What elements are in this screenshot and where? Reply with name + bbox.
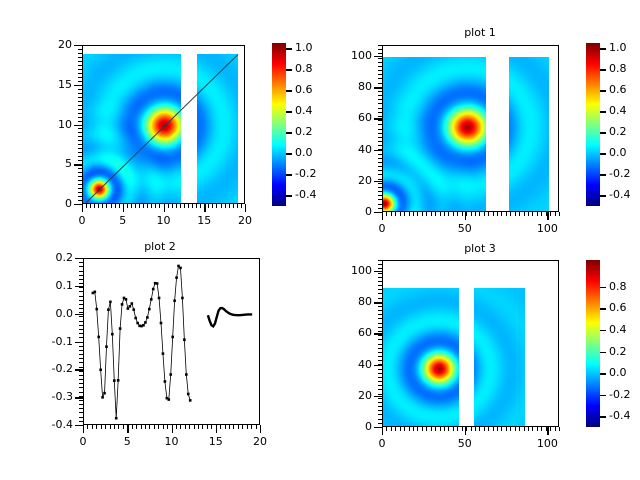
x-minor-tick (391, 212, 392, 216)
colorbar-tick-label: 0.6 (609, 83, 627, 96)
y-tick-label: 0.0 (27, 307, 73, 320)
line-series-plot2 (84, 259, 260, 425)
x-minor-tick (101, 425, 102, 429)
y-minor-tick (78, 69, 82, 70)
x-minor-tick (185, 425, 186, 429)
y-major-tick (374, 365, 382, 366)
colorbar-tick-label: 0.0 (609, 146, 627, 159)
y-tick-label: 80 (326, 80, 372, 93)
y-minor-tick (78, 61, 82, 62)
y-minor-tick (378, 419, 382, 420)
y-minor-tick (79, 383, 83, 384)
x-minor-tick (132, 425, 133, 429)
y-major-tick (75, 286, 83, 287)
y-minor-tick (79, 387, 83, 388)
y-major-tick (374, 271, 382, 272)
y-minor-tick (78, 73, 82, 74)
colorbar-tick (600, 287, 606, 288)
y-major-tick (374, 181, 382, 182)
y-minor-tick (378, 74, 382, 75)
y-minor-tick (78, 81, 82, 82)
x-minor-tick (537, 212, 538, 216)
y-tick-label: 0 (26, 197, 72, 210)
x-minor-tick (225, 204, 226, 208)
y-minor-tick (378, 204, 382, 205)
x-minor-tick (106, 204, 107, 208)
data-point-marker (150, 298, 153, 301)
y-major-tick (374, 150, 382, 151)
y-minor-tick (378, 323, 382, 324)
y-minor-tick (378, 179, 382, 180)
x-minor-tick (247, 425, 248, 429)
data-point-marker (134, 317, 137, 320)
y-tick-label: 0 (326, 420, 372, 433)
x-major-tick (465, 427, 466, 435)
heatmap-block-a (383, 288, 459, 427)
y-tick-label: 10 (26, 118, 72, 131)
x-minor-tick (180, 425, 181, 429)
colorbar-tick (286, 69, 292, 70)
y-minor-tick (378, 414, 382, 415)
y-tick-label: 20 (26, 38, 72, 51)
colorbar-tick-label: 0.2 (609, 345, 627, 358)
y-tick-label: 5 (26, 157, 72, 170)
x-minor-tick (475, 212, 476, 216)
y-minor-tick (78, 49, 82, 50)
y-minor-tick (79, 421, 83, 422)
x-minor-tick (497, 212, 498, 216)
colorbar-gradient (586, 260, 600, 427)
x-minor-tick (501, 427, 502, 431)
subplot-bottom-left: plot 2 051015200.20.10.0-0.1-0.2-0.3-0.4 (0, 240, 320, 480)
y-minor-tick (378, 62, 382, 63)
colorbar-tick (286, 111, 292, 112)
y-major-tick (75, 369, 83, 370)
y-minor-tick (78, 53, 82, 54)
x-minor-tick (479, 212, 480, 216)
y-minor-tick (79, 371, 83, 372)
x-minor-tick (528, 427, 529, 431)
y-minor-tick (79, 404, 83, 405)
x-minor-tick (479, 427, 480, 431)
y-minor-tick (79, 266, 83, 267)
x-minor-tick (155, 204, 156, 208)
data-point-marker (127, 307, 130, 310)
x-tick-label: 0 (60, 214, 104, 227)
y-minor-tick (78, 57, 82, 58)
x-minor-tick (493, 212, 494, 216)
x-minor-tick (400, 212, 401, 216)
y-minor-tick (378, 260, 382, 261)
x-minor-tick (145, 425, 146, 429)
x-minor-tick (237, 204, 238, 208)
y-major-tick (74, 125, 82, 126)
data-point-marker (107, 308, 110, 311)
y-minor-tick (79, 296, 83, 297)
y-minor-tick (79, 291, 83, 292)
data-point-marker (189, 399, 192, 402)
data-point-marker (167, 398, 170, 401)
y-minor-tick (79, 262, 83, 263)
x-minor-tick (192, 204, 193, 208)
x-minor-tick (435, 427, 436, 431)
figure-canvas: 0510152005101520 1.00.80.60.40.20.0-0.2-… (0, 0, 640, 480)
colorbar-tick-label: 0.4 (609, 323, 627, 336)
colorbar-tick-label: 0.8 (609, 62, 627, 75)
colorbar-tick (286, 195, 292, 196)
x-minor-tick (90, 204, 91, 208)
x-minor-tick (233, 204, 234, 208)
y-minor-tick (378, 281, 382, 282)
x-minor-tick (200, 204, 201, 208)
axes-frame-top-right (382, 45, 559, 212)
y-minor-tick (378, 306, 382, 307)
y-minor-tick (79, 304, 83, 305)
x-minor-tick (404, 212, 405, 216)
x-minor-tick (466, 212, 467, 216)
colorbar-tick (286, 132, 292, 133)
y-minor-tick (78, 192, 82, 193)
colorbar-gradient (272, 43, 286, 206)
heatmap-block-a (83, 54, 181, 204)
y-minor-tick (78, 148, 82, 149)
y-minor-tick (378, 141, 382, 142)
data-point-marker (183, 338, 186, 341)
y-minor-tick (79, 337, 83, 338)
x-minor-tick (493, 427, 494, 431)
x-major-tick (127, 425, 128, 433)
x-minor-tick (448, 212, 449, 216)
x-minor-tick (184, 204, 185, 208)
x-minor-tick (510, 427, 511, 431)
data-point-marker (119, 327, 122, 330)
y-minor-tick (378, 162, 382, 163)
y-minor-tick (79, 417, 83, 418)
x-minor-tick (484, 212, 485, 216)
x-major-tick (260, 425, 261, 433)
x-minor-tick (440, 212, 441, 216)
colorbar-tick-label: 0.4 (609, 104, 627, 117)
y-minor-tick (79, 358, 83, 359)
y-minor-tick (78, 188, 82, 189)
x-minor-tick (409, 427, 410, 431)
y-minor-tick (78, 168, 82, 169)
line-path-segment-1 (93, 266, 190, 418)
x-minor-tick (506, 212, 507, 216)
y-minor-tick (79, 408, 83, 409)
x-minor-tick (519, 212, 520, 216)
x-minor-tick (431, 427, 432, 431)
y-minor-tick (378, 314, 382, 315)
x-minor-tick (426, 212, 427, 216)
x-minor-tick (87, 425, 88, 429)
y-minor-tick (378, 398, 382, 399)
y-major-tick (74, 45, 82, 46)
y-major-tick (374, 87, 382, 88)
subplot-top-left: 0510152005101520 1.00.80.60.40.20.0-0.2-… (0, 0, 320, 240)
x-minor-tick (462, 427, 463, 431)
y-minor-tick (378, 360, 382, 361)
x-minor-tick (471, 212, 472, 216)
x-minor-tick (409, 212, 410, 216)
data-point-marker (142, 324, 145, 327)
axes-frame-top-left (82, 45, 245, 204)
x-minor-tick (139, 204, 140, 208)
x-minor-tick (221, 204, 222, 208)
data-point-marker (111, 333, 114, 336)
y-minor-tick (378, 344, 382, 345)
y-major-tick (374, 212, 382, 213)
x-minor-tick (188, 204, 189, 208)
x-tick-label: 5 (101, 214, 145, 227)
colorbar-tick (286, 90, 292, 91)
data-point-marker (97, 336, 100, 339)
data-point-marker (160, 322, 163, 325)
y-minor-tick (378, 166, 382, 167)
y-minor-tick (378, 264, 382, 265)
data-point-marker (125, 298, 128, 301)
y-minor-tick (378, 289, 382, 290)
heatmap-block-b (509, 57, 549, 212)
y-minor-tick (78, 196, 82, 197)
x-minor-tick (198, 425, 199, 429)
x-minor-tick (528, 212, 529, 216)
data-point-marker (105, 345, 108, 348)
data-point-marker (169, 373, 172, 376)
y-minor-tick (378, 124, 382, 125)
x-minor-tick (212, 204, 213, 208)
data-point-marker (171, 336, 174, 339)
data-point-marker (162, 352, 165, 355)
y-minor-tick (378, 273, 382, 274)
x-tick-label: 100 (525, 437, 569, 450)
x-minor-tick (233, 425, 234, 429)
y-minor-tick (378, 158, 382, 159)
y-minor-tick (378, 331, 382, 332)
x-major-tick (164, 204, 165, 212)
data-point-marker (132, 308, 135, 311)
colorbar-tick-label: -0.4 (609, 188, 630, 201)
y-minor-tick (79, 271, 83, 272)
y-minor-tick (378, 373, 382, 374)
colorbar-tick-label: 0.6 (295, 83, 313, 96)
x-minor-tick (422, 427, 423, 431)
y-minor-tick (79, 367, 83, 368)
colorbar-tick-label: 0.4 (295, 104, 313, 117)
y-major-tick (374, 56, 382, 57)
y-minor-tick (79, 325, 83, 326)
y-minor-tick (378, 83, 382, 84)
y-minor-tick (378, 277, 382, 278)
y-minor-tick (78, 140, 82, 141)
x-minor-tick (488, 427, 489, 431)
y-tick-label: 80 (326, 295, 372, 308)
y-minor-tick (378, 183, 382, 184)
colorbar-tick (600, 111, 606, 112)
y-minor-tick (378, 348, 382, 349)
y-minor-tick (78, 184, 82, 185)
y-minor-tick (78, 180, 82, 181)
data-point-marker (187, 393, 190, 396)
y-minor-tick (78, 156, 82, 157)
y-major-tick (75, 314, 83, 315)
x-minor-tick (484, 427, 485, 431)
x-major-tick (382, 212, 383, 220)
x-minor-tick (555, 427, 556, 431)
y-tick-label: 40 (326, 358, 372, 371)
x-minor-tick (167, 425, 168, 429)
x-minor-tick (395, 427, 396, 431)
y-minor-tick (378, 199, 382, 200)
y-minor-tick (378, 174, 382, 175)
colorbar-tick (600, 352, 606, 353)
y-minor-tick (79, 379, 83, 380)
data-point-marker (164, 380, 167, 383)
x-tick-label: 0 (360, 222, 404, 235)
x-minor-tick (238, 425, 239, 429)
x-minor-tick (135, 204, 136, 208)
x-minor-tick (151, 204, 152, 208)
axes-frame-bottom-right (382, 260, 559, 427)
y-minor-tick (378, 99, 382, 100)
data-point-marker (173, 299, 176, 302)
x-minor-tick (242, 425, 243, 429)
data-point-marker (129, 305, 132, 308)
data-point-marker (121, 303, 124, 306)
colorbar-gradient (586, 43, 600, 206)
y-minor-tick (78, 132, 82, 133)
subplot-title-top-right: plot 1 (320, 26, 640, 39)
y-minor-tick (78, 128, 82, 129)
y-minor-tick (79, 375, 83, 376)
y-minor-tick (378, 268, 382, 269)
x-minor-tick (453, 212, 454, 216)
y-tick-label: 20 (326, 174, 372, 187)
x-major-tick (172, 425, 173, 433)
y-minor-tick (378, 66, 382, 67)
x-tick-label: 5 (105, 435, 149, 448)
y-major-tick (374, 118, 382, 119)
x-minor-tick (417, 427, 418, 431)
x-tick-label: 100 (525, 222, 569, 235)
x-minor-tick (422, 212, 423, 216)
x-minor-tick (194, 425, 195, 429)
y-major-tick (75, 425, 83, 426)
y-minor-tick (378, 385, 382, 386)
y-major-tick (374, 302, 382, 303)
data-point-marker (175, 276, 178, 279)
x-minor-tick (537, 427, 538, 431)
subplot-bottom-right: plot 3 050100020406080100 0.80.60.40.20.… (320, 240, 640, 480)
y-minor-tick (378, 410, 382, 411)
x-minor-tick (413, 427, 414, 431)
x-tick-label: 50 (443, 437, 487, 450)
data-point-marker (185, 373, 188, 376)
x-minor-tick (176, 204, 177, 208)
data-point-marker (99, 368, 102, 371)
x-minor-tick (229, 204, 230, 208)
data-point-marker (156, 282, 159, 285)
y-minor-tick (378, 327, 382, 328)
y-minor-tick (378, 133, 382, 134)
x-minor-tick (149, 425, 150, 429)
x-minor-tick (550, 212, 551, 216)
subplot-top-right: plot 1 050100020406080100 1.00.80.60.40.… (320, 0, 640, 240)
colorbar-tick-label: 1.0 (295, 41, 313, 54)
y-minor-tick (378, 95, 382, 96)
y-minor-tick (378, 195, 382, 196)
y-tick-label: 40 (326, 143, 372, 156)
x-minor-tick (515, 212, 516, 216)
colorbar-tick (600, 174, 606, 175)
y-minor-tick (378, 103, 382, 104)
x-tick-label: 20 (223, 214, 267, 227)
y-tick-label: 100 (326, 49, 372, 62)
y-major-tick (74, 164, 82, 165)
colorbar-tick-label: 0.0 (609, 366, 627, 379)
x-major-tick (216, 425, 217, 433)
y-minor-tick (378, 49, 382, 50)
colorbar-tick (286, 153, 292, 154)
data-point-marker (94, 291, 97, 294)
x-major-tick (547, 212, 548, 220)
y-tick-label: -0.2 (27, 362, 73, 375)
x-tick-label: 10 (142, 214, 186, 227)
x-minor-tick (176, 425, 177, 429)
x-minor-tick (163, 425, 164, 429)
data-point-marker (148, 308, 151, 311)
y-major-tick (74, 204, 82, 205)
x-minor-tick (506, 427, 507, 431)
y-major-tick (75, 342, 83, 343)
colorbar-tick-label: -0.4 (609, 409, 630, 422)
y-minor-tick (79, 300, 83, 301)
x-minor-tick (391, 427, 392, 431)
y-minor-tick (378, 91, 382, 92)
colorbar-tick (600, 395, 606, 396)
x-major-tick (123, 204, 124, 212)
y-minor-tick (78, 136, 82, 137)
x-minor-tick (110, 425, 111, 429)
y-minor-tick (378, 423, 382, 424)
heatmap-block-b (474, 288, 525, 427)
x-minor-tick (475, 427, 476, 431)
x-tick-label: 15 (194, 435, 238, 448)
y-minor-tick (378, 285, 382, 286)
colorbar-tick (286, 48, 292, 49)
colorbar-tick (600, 195, 606, 196)
x-minor-tick (559, 427, 560, 431)
x-minor-tick (519, 427, 520, 431)
y-minor-tick (378, 129, 382, 130)
x-minor-tick (413, 212, 414, 216)
data-point-marker (130, 302, 133, 305)
x-minor-tick (189, 425, 190, 429)
y-minor-tick (378, 191, 382, 192)
colorbar-tick (286, 174, 292, 175)
x-minor-tick (105, 425, 106, 429)
x-minor-tick (555, 212, 556, 216)
x-minor-tick (466, 427, 467, 431)
colorbar-tick-label: 0.8 (295, 62, 313, 75)
y-tick-label: 0 (326, 205, 372, 218)
x-minor-tick (114, 425, 115, 429)
y-tick-label: -0.3 (27, 390, 73, 403)
data-point-marker (144, 321, 147, 324)
x-minor-tick (532, 212, 533, 216)
y-minor-tick (378, 58, 382, 59)
x-major-tick (382, 427, 383, 435)
